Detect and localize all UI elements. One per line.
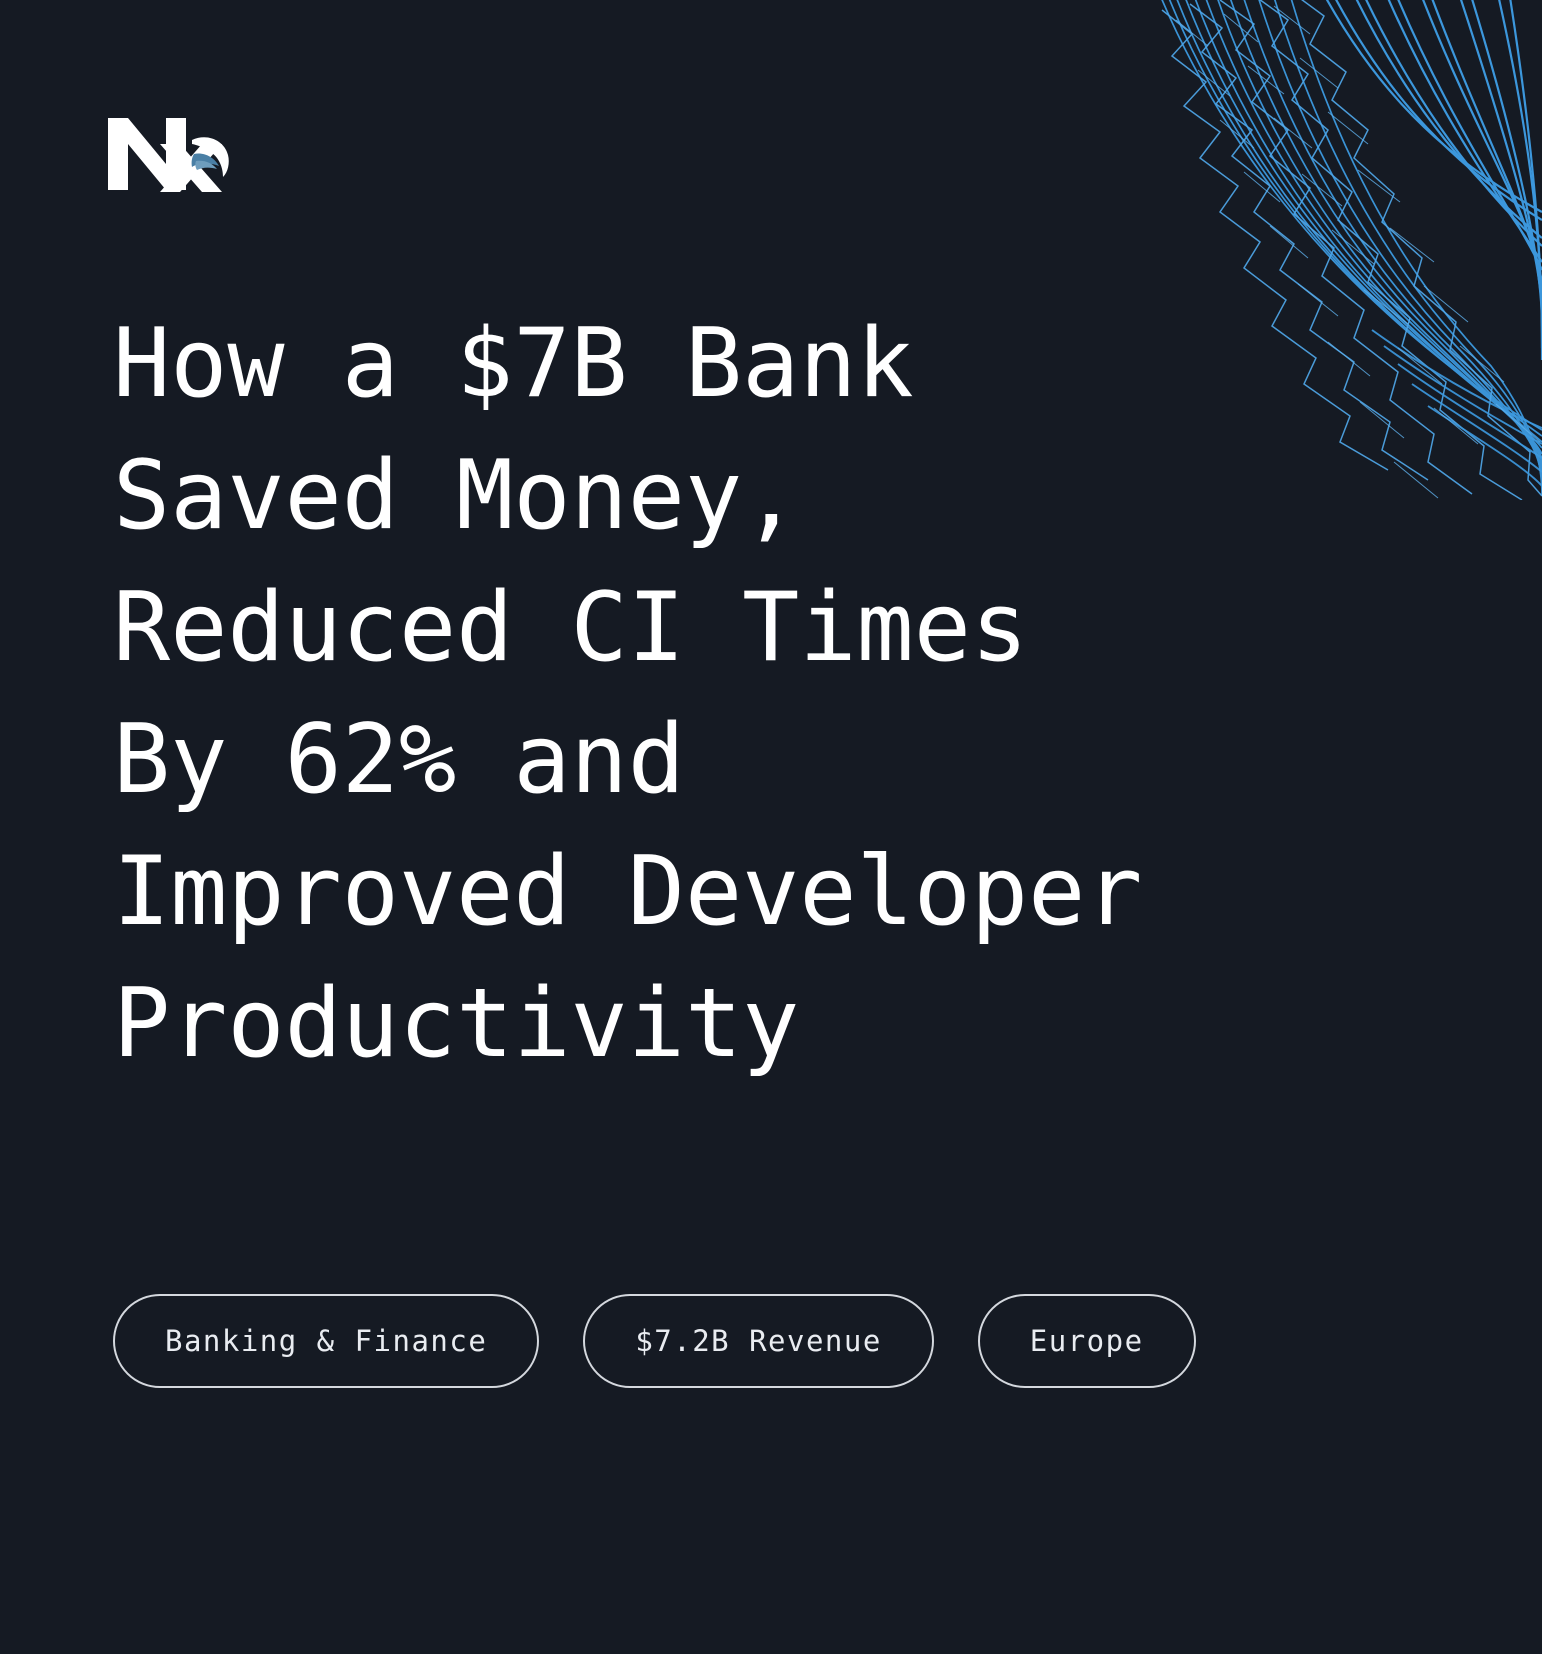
- title-line: How a $7B Bank: [113, 298, 1433, 430]
- title-line: Productivity: [113, 958, 1433, 1090]
- nx-logo[interactable]: [106, 114, 232, 194]
- title-line: Improved Developer: [113, 826, 1433, 958]
- tag-pill-region[interactable]: Europe: [978, 1294, 1196, 1388]
- tag-pill-industry[interactable]: Banking & Finance: [113, 1294, 539, 1388]
- tag-pill-label: $7.2B Revenue: [635, 1324, 881, 1358]
- tag-pill-label: Europe: [1030, 1324, 1144, 1358]
- title-line: By 62% and: [113, 694, 1433, 826]
- title-line: Saved Money,: [113, 430, 1433, 562]
- page-title: How a $7B Bank Saved Money, Reduced CI T…: [113, 298, 1433, 1090]
- title-line: Reduced CI Times: [113, 562, 1433, 694]
- tag-pill-revenue[interactable]: $7.2B Revenue: [583, 1294, 933, 1388]
- tag-pill-label: Banking & Finance: [165, 1324, 487, 1358]
- tag-list: Banking & Finance $7.2B Revenue Europe: [113, 1294, 1196, 1388]
